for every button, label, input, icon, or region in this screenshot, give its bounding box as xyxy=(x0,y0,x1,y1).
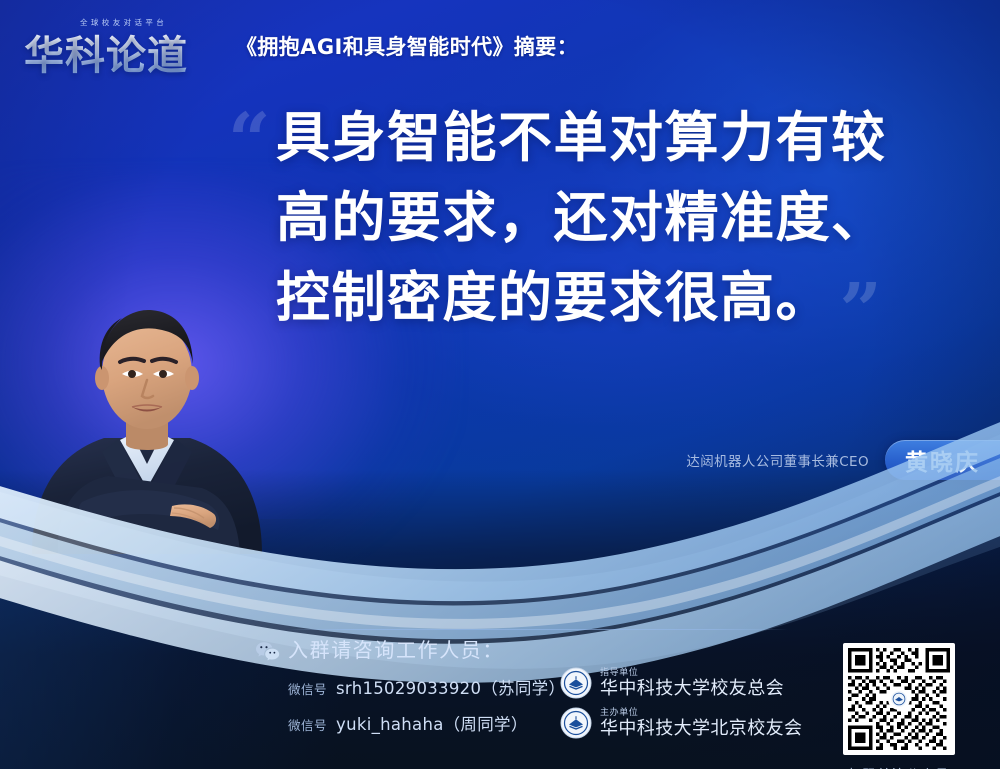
contact-row: 微信号 srh15029033920（苏同学） xyxy=(288,675,565,699)
brand-logo: 全球校友对话平台 华科论道 xyxy=(24,15,214,77)
contact-heading: 入群请咨询工作人员： xyxy=(288,634,504,663)
university-seal-icon xyxy=(560,667,592,699)
speaker-name-badge: 黄晓庆 xyxy=(885,440,1000,480)
contact-row: 微信号 yuki_hahaha（周同学） xyxy=(288,711,528,735)
organization-row: 指导单位 华中科技大学校友总会 xyxy=(560,667,784,699)
organization-name: 华中科技大学校友总会 xyxy=(600,679,784,699)
quote-block: “ ” 具身智能不单对算力有较 高的要求，还对精准度、 控制密度的要求很高。 xyxy=(228,98,958,338)
organization-kind: 主办单位 xyxy=(600,708,802,718)
organization-texts: 指导单位 华中科技大学校友总会 xyxy=(600,668,784,699)
qr-code-image[interactable] xyxy=(843,643,955,755)
page-title: 《拥抱AGI和具身智能时代》摘要： xyxy=(236,31,578,61)
contact-label: 微信号 xyxy=(288,679,327,698)
organization-name: 华中科技大学北京校友会 xyxy=(600,719,802,739)
footer-divider xyxy=(288,629,788,630)
footer-section: 入群请咨询工作人员： 微信号 srh15029033920（苏同学） 微信号 y… xyxy=(0,629,1000,769)
header-bar: 全球校友对话平台 华科论道 《拥抱AGI和具身智能时代》摘要： xyxy=(0,0,1000,92)
wechat-icon xyxy=(255,641,281,661)
quote-line: 具身智能不单对算力有较 xyxy=(276,98,958,178)
speaker-role: 达闼机器人公司董事长兼CEO xyxy=(686,450,869,470)
qr-center-logo xyxy=(888,688,910,710)
contact-value: yuki_hahaha（周同学） xyxy=(336,711,528,735)
contact-value: srh15029033920（苏同学） xyxy=(336,675,565,699)
quote-line: 控制密度的要求很高。 xyxy=(276,258,958,338)
organization-kind: 指导单位 xyxy=(600,668,784,678)
qr-block: 扫码关注公众号 xyxy=(834,643,964,769)
quote-line: 高的要求，还对精准度、 xyxy=(276,178,958,258)
speaker-attribution: 达闼机器人公司董事长兼CEO 黄晓庆 xyxy=(560,440,960,480)
organization-row: 主办单位 华中科技大学北京校友会 xyxy=(560,707,802,739)
contact-label: 微信号 xyxy=(288,715,327,734)
quote-lines: 具身智能不单对算力有较 高的要求，还对精准度、 控制密度的要求很高。 xyxy=(276,98,958,338)
speaker-portrait xyxy=(22,292,272,554)
university-seal-icon xyxy=(560,707,592,739)
logo-wordmark: 华科论道 xyxy=(24,23,188,81)
quote-open-mark: “ xyxy=(228,104,271,178)
qr-caption: 扫码关注公众号 xyxy=(834,764,964,769)
organization-texts: 主办单位 华中科技大学北京校友会 xyxy=(600,708,802,739)
poster-canvas: 全球校友对话平台 华科论道 《拥抱AGI和具身智能时代》摘要： “ ” 具身智能… xyxy=(0,0,1000,769)
